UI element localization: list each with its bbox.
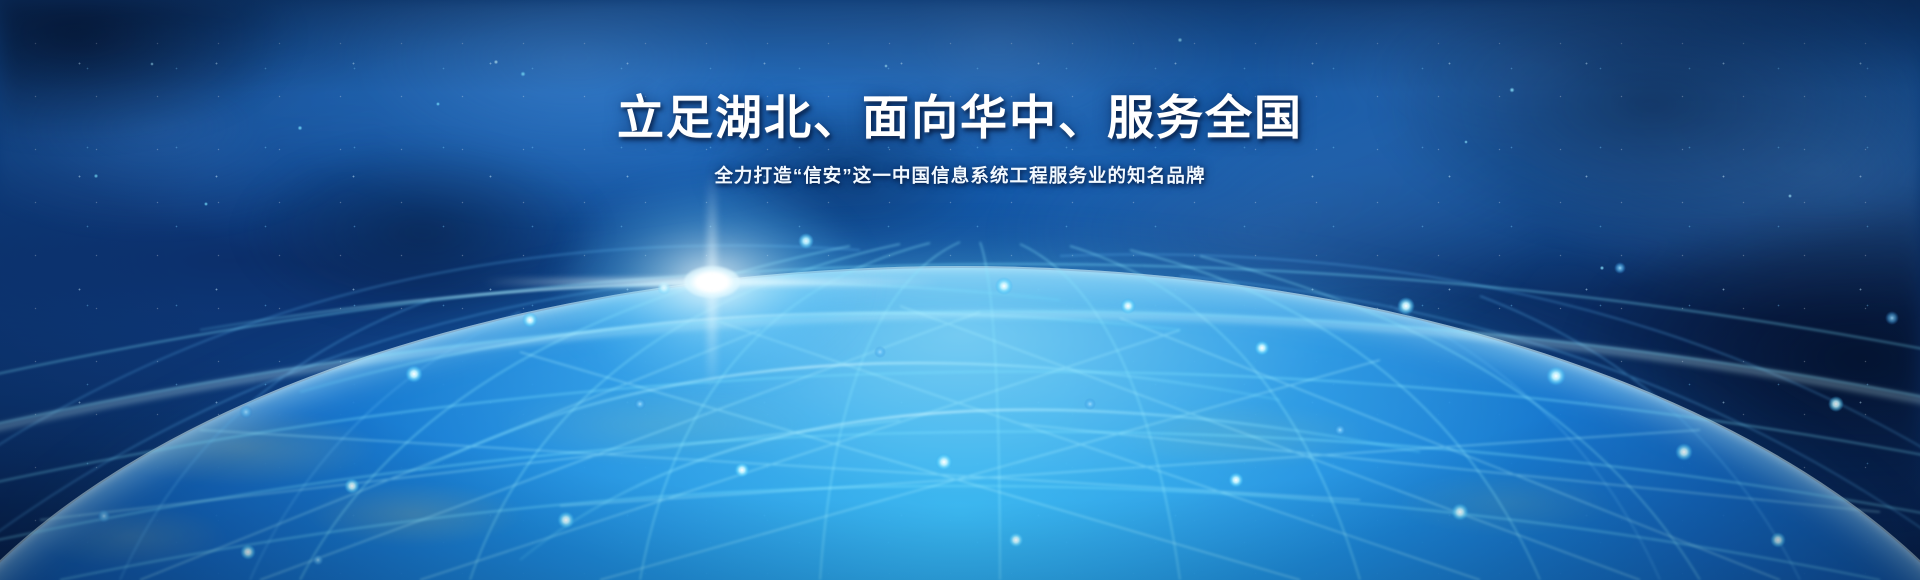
hero-banner: 立足湖北、面向华中、服务全国 全力打造“信安”这一中国信息系统工程服务业的知名品… <box>0 0 1920 580</box>
banner-title: 立足湖北、面向华中、服务全国 <box>0 90 1920 145</box>
banner-subtitle: 全力打造“信安”这一中国信息系统工程服务业的知名品牌 <box>0 162 1920 188</box>
network-connection-graphic <box>0 0 1920 580</box>
banner-text-block: 立足湖北、面向华中、服务全国 全力打造“信安”这一中国信息系统工程服务业的知名品… <box>0 90 1920 188</box>
